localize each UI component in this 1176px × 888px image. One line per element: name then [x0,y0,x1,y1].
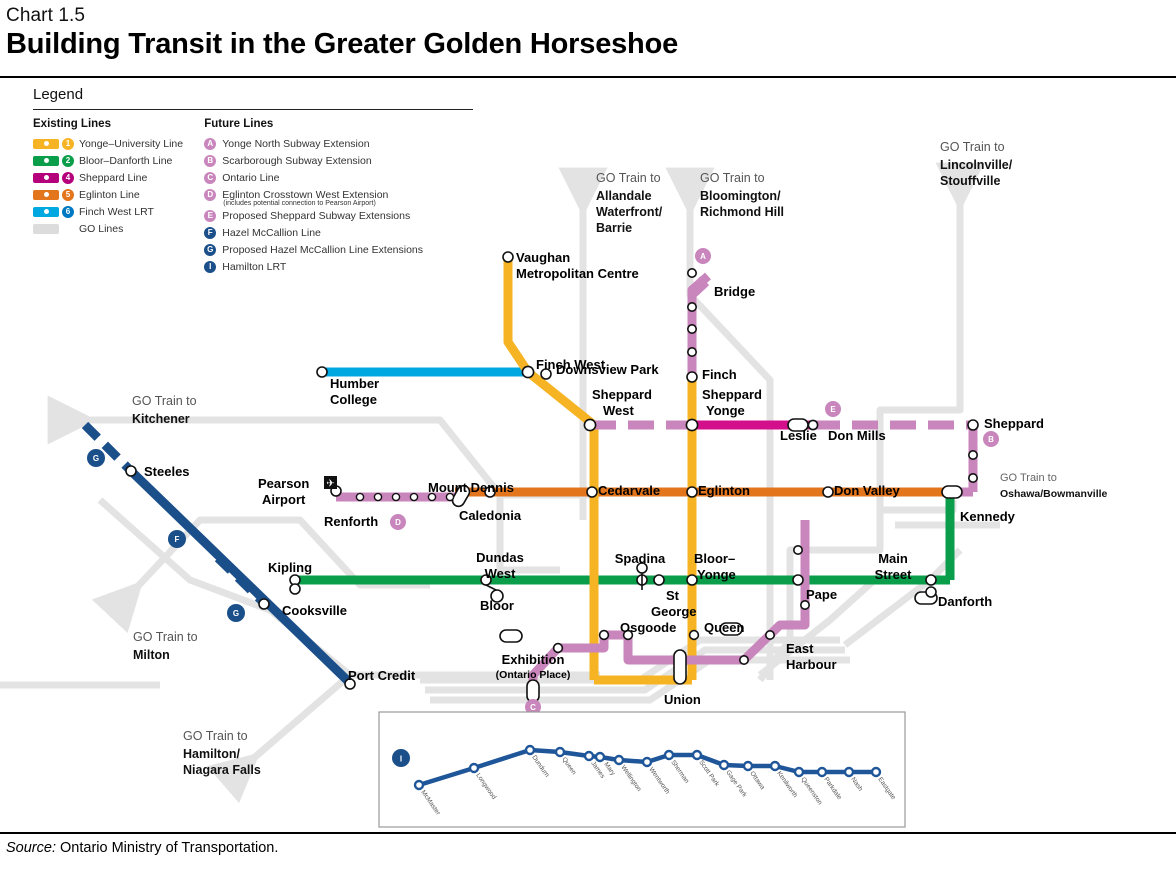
go-dest-prefix: GO Train to [596,171,661,185]
label-east-harbour-1: East [786,641,814,656]
label-renforth: Renforth [324,514,378,529]
label-downsview-park: Downsview Park [556,362,659,377]
station-dot-ynse-3 [688,303,696,311]
label-mount-dennis: Mount Dennis [428,480,514,495]
go-dest-richmond-1: Bloomington/ [700,189,781,203]
interchange-exhibition [527,680,539,702]
svg-text:C: C [530,703,536,712]
map-badge-e: E [825,401,841,417]
map-future-badges: A E B D C G F G [87,248,999,715]
go-dest-barrie-3: Barrie [596,221,632,235]
station-markers [126,252,978,689]
station-dot-st-george [654,575,664,585]
label-sheppard-yonge-2: Yonge [706,403,745,418]
label-vaughan-2: Metropolitan Centre [516,266,639,281]
footer-divider [0,832,1176,834]
label-steeles: Steeles [144,464,190,479]
map-badge-b: B [983,431,999,447]
station-dot-vaughan [503,252,513,262]
go-dest-oshawa: Oshawa/Bowmanville [1000,488,1108,500]
go-dest-prefix: GO Train to [183,729,248,743]
svg-text:G: G [93,454,99,463]
label-kipling: Kipling [268,560,312,575]
source-line: Source: Ontario Ministry of Transportati… [6,840,278,856]
go-dest-prefix: GO Train to [132,394,197,408]
go-dest-prefix: GO Train to [1000,472,1057,484]
station-dot-bloor-yonge [687,575,697,585]
label-dundas-west-2: West [485,566,516,581]
go-dest-kitchener: Kitchener [132,412,190,426]
label-queen: Queen [704,620,745,635]
label-humber-1: Humber [330,376,379,391]
go-dest-stouff-1: Lincolnville/ [940,158,1013,172]
label-eglinton: Eglinton [698,483,750,498]
label-danforth: Danforth [938,594,992,609]
svg-text:E: E [830,405,836,414]
label-st-george-2: George [651,604,697,619]
label-osgoode: Osgoode [620,620,676,635]
station-dot-finch [687,372,697,382]
label-pape: Pape [806,587,837,602]
label-port-credit: Port Credit [348,668,416,683]
label-pearson-2: Airport [262,492,306,507]
go-dest-prefix: GO Train to [940,140,1005,154]
label-exhibition-1: Exhibition [502,652,565,667]
svg-text:D: D [395,518,401,527]
label-cedarvale: Cedarvale [598,483,660,498]
label-sheppard-west-1: Sheppard [592,387,652,402]
bloor-danforth-line [295,492,950,580]
station-dot-sse-1 [969,451,977,459]
station-dot-cooksville [259,599,269,609]
go-line-oshawa-link [880,500,953,510]
label-leslie: Leslie [780,428,817,443]
transit-map: A E B D C G F G GO Train to Allandale Wa… [0,80,1176,832]
source-text: Ontario Ministry of Transportation. [56,840,278,856]
map-badge-d: D [390,514,406,530]
label-vaughan-1: Vaughan [516,250,570,265]
go-dest-hamilton-2: Niagara Falls [183,763,261,777]
label-don-mills: Don Mills [828,428,886,443]
go-line-hamilton [240,675,350,770]
map-badge-f: F [168,530,186,548]
label-sheppard-yonge-1: Sheppard [702,387,762,402]
station-dot-pape [793,575,803,585]
station-dot-queen [690,631,699,640]
go-dest-stouff-2: Stouffville [940,174,1000,188]
station-dot-steeles [126,466,136,476]
svg-text:B: B [988,435,994,444]
station-dot-ynse-1 [688,348,696,356]
source-label: Source: [6,840,56,856]
go-dest-prefix: GO Train to [133,630,198,644]
station-dot-kipling-2 [290,584,300,594]
station-dot-humber-college [317,367,327,377]
label-main-street-1: Main [878,551,908,566]
station-dot-main-street [926,575,936,585]
chart-number: Chart 1.5 [6,5,85,27]
label-sheppard-west-2: West [603,403,634,418]
interchange-east-harbour-cap [500,630,522,642]
go-dest-milton: Milton [133,648,170,662]
interchange-union [674,650,686,684]
label-st-george-1: St [666,588,680,603]
label-sheppard: Sheppard [984,416,1044,431]
page-title: Building Transit in the Greater Golden H… [6,28,678,61]
station-dot-sheppard [968,420,978,430]
go-dest-hamilton-1: Hamilton/ [183,747,240,761]
label-finch: Finch [702,367,737,382]
station-dot-ol-3 [766,631,774,639]
station-dot-ol-2 [801,601,809,609]
label-kennedy: Kennedy [960,509,1016,524]
station-dot-osgoode [600,631,609,640]
map-badge-g-north: G [87,449,105,467]
map-badge-g-south: G [227,604,245,622]
label-bridge: Bridge [714,284,755,299]
station-dot-sheppard-yonge [686,419,697,430]
label-bloor: Bloor [480,598,514,613]
label-dundas-west-1: Dundas [476,550,524,565]
station-dot-ynse-4 [688,269,696,277]
svg-text:✈: ✈ [326,479,334,490]
hamilton-lrt-inset: I McMaster Longwood Dundurn Queen James … [379,712,905,827]
station-dot-finch-west [522,366,533,377]
label-main-street-2: Street [875,567,913,582]
label-union: Union [664,692,701,707]
station-dot-sheppard-west [584,419,595,430]
label-exhibition-2: (Ontario Place) [496,669,571,681]
label-pearson-1: Pearson [258,476,309,491]
label-don-valley: Don Valley [834,483,901,498]
svg-text:F: F [175,535,180,544]
label-caledonia: Caledonia [459,508,522,523]
label-humber-2: College [330,392,377,407]
svg-text:A: A [700,252,706,261]
station-dot-ol-4 [740,656,748,664]
svg-text:I: I [400,755,402,764]
go-dest-barrie-2: Waterfront/ [596,205,663,219]
go-dest-richmond-2: Richmond Hill [700,205,784,219]
station-dot-eglinton [687,487,697,497]
interchange-kennedy [942,486,962,498]
label-bloor-yonge-2: Yonge [697,567,736,582]
go-dest-prefix: GO Train to [700,171,765,185]
svg-text:G: G [233,609,239,618]
station-dot-sse-2 [969,474,977,482]
go-dest-barrie-1: Allandale [596,189,652,203]
label-bloor-yonge-1: Bloor– [694,551,735,566]
header-divider [0,76,1176,78]
map-badge-a: A [695,248,711,264]
airport-icon: ✈ [324,476,337,490]
label-spadina: Spadina [615,551,666,566]
station-dot-cedarvale [587,487,597,497]
station-dot-ynse-2 [688,325,696,333]
station-dot-ol-1 [794,546,802,554]
label-east-harbour-2: Harbour [786,657,837,672]
label-cooksville: Cooksville [282,603,347,618]
station-dot-don-valley [823,487,833,497]
